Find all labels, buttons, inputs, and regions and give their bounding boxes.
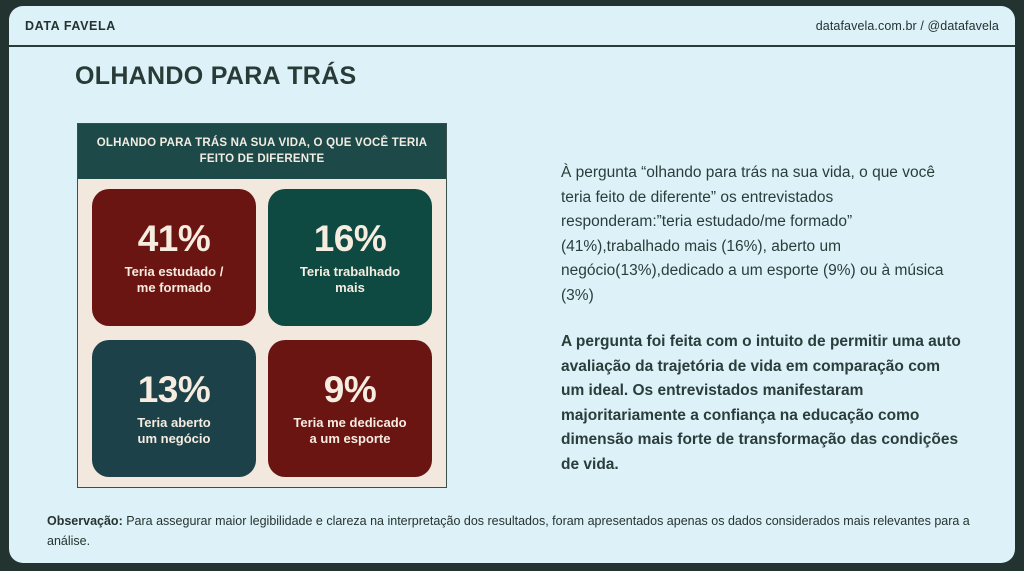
footnote-label: Observação: (47, 514, 123, 528)
footnote: Observação: Para assegurar maior legibil… (47, 511, 975, 551)
brand-label: DATA FAVELA (25, 19, 116, 33)
stat-value: 41% (138, 220, 211, 257)
stat-label: Teria trabalhado mais (300, 264, 400, 295)
stat-label: Teria aberto um negócio (137, 415, 210, 446)
stat-label: Teria me dedicado a um esporte (293, 415, 406, 446)
footnote-text: Para assegurar maior legibilidade e clar… (47, 514, 970, 548)
stat-card-esporte: 9% Teria me dedicado a um esporte (268, 340, 432, 477)
chart-title: OLHANDO PARA TRÁS NA SUA VIDA, O QUE VOC… (78, 124, 446, 179)
header-bar: DATA FAVELA datafavela.com.br / @datafav… (9, 6, 1015, 47)
site-handle-label: datafavela.com.br / @datafavela (816, 19, 999, 33)
stat-value: 13% (138, 371, 211, 408)
slide-frame: DATA FAVELA datafavela.com.br / @datafav… (9, 6, 1015, 563)
commentary-paragraph-2: A pergunta foi feita com o intuito de pe… (561, 330, 961, 477)
slide-root: DATA FAVELA datafavela.com.br / @datafav… (0, 0, 1024, 571)
stat-value: 16% (314, 220, 387, 257)
chart-card-grid: 41% Teria estudado / me formado 16% Teri… (78, 179, 446, 491)
commentary-paragraph-1: À pergunta “olhando para trás na sua vid… (561, 161, 961, 308)
chart-panel: OLHANDO PARA TRÁS NA SUA VIDA, O QUE VOC… (77, 123, 447, 488)
stat-card-trabalhado: 16% Teria trabalhado mais (268, 189, 432, 326)
stat-card-negocio: 13% Teria aberto um negócio (92, 340, 256, 477)
commentary-block: À pergunta “olhando para trás na sua vid… (561, 161, 961, 477)
page-title: OLHANDO PARA TRÁS (75, 62, 356, 91)
stat-value: 9% (324, 371, 376, 408)
stat-label: Teria estudado / me formado (125, 264, 224, 295)
stat-card-estudado: 41% Teria estudado / me formado (92, 189, 256, 326)
